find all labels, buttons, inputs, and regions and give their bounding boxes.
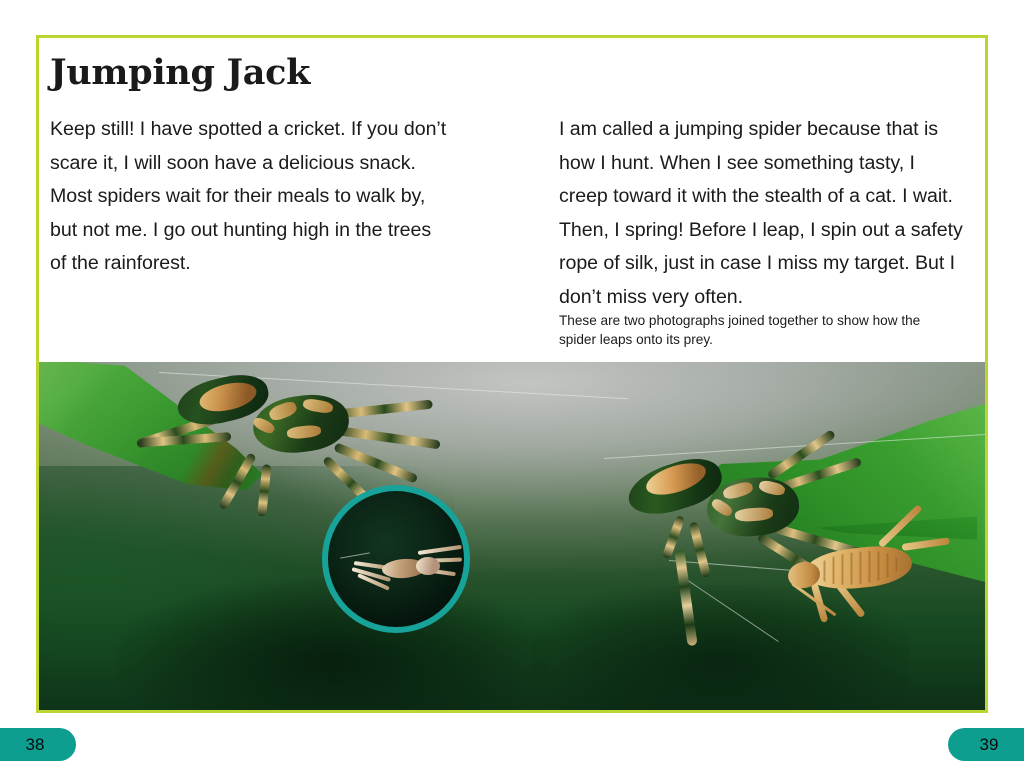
page-title: Jumping Jack [50, 52, 310, 93]
inset-spider-leg [418, 545, 462, 555]
page-number-left: 38 [0, 728, 76, 761]
body-paragraph-left: Keep still! I have spotted a cricket. If… [50, 113, 450, 281]
spider-leg [689, 521, 711, 578]
page-number-right: 39 [948, 728, 1024, 761]
photo-caption: These are two photographs joined togethe… [559, 312, 959, 349]
cricket-prey [784, 532, 954, 612]
inset-closeup-circle [322, 485, 470, 633]
inset-spider-midair [342, 547, 462, 593]
body-column-left: Keep still! I have spotted a cricket. If… [50, 113, 450, 281]
inset-silk-thread [340, 552, 370, 558]
body-column-right: I am called a jumping spider because tha… [559, 113, 969, 314]
inset-spider-head [416, 557, 440, 575]
text-area: Jumping Jack Keep still! I have spotted … [39, 38, 985, 362]
spider-leg [336, 426, 440, 449]
spider-leg [257, 464, 271, 517]
spider-dragline [674, 550, 697, 646]
book-spread: Jumping Jack Keep still! I have spotted … [0, 0, 1024, 779]
cricket-leg [902, 537, 951, 551]
body-paragraph-right: I am called a jumping spider because tha… [559, 113, 969, 314]
spread-photograph: Olympic Leaper Some jumping spiders can … [39, 362, 985, 710]
photo-caption-text: These are two photographs joined togethe… [559, 312, 959, 349]
spider-leg [218, 452, 257, 510]
